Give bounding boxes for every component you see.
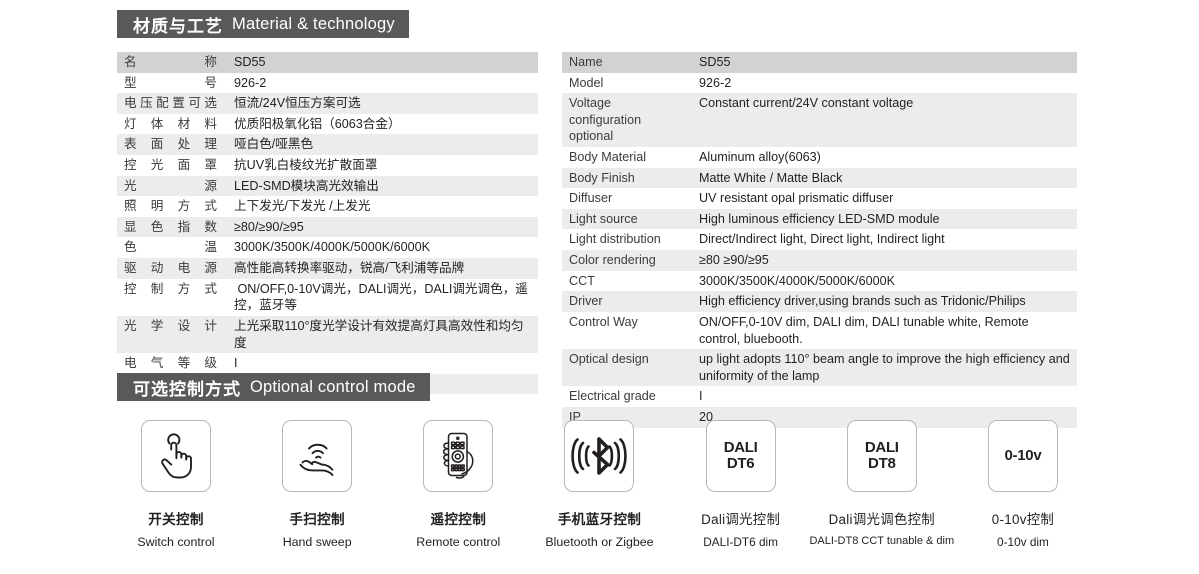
table-row: Voltage configuration optionalConstant c… (562, 93, 1077, 147)
spec-table-chinese: 名称SD55型号926-2电压配置可选恒流/24V恒压方案可选灯体材料优质阳极氧… (117, 52, 538, 394)
control-mode-icon-box: DALIDT8 (847, 420, 917, 492)
control-mode-label-cn: 手扫控制 (289, 508, 345, 528)
table-row: Body MaterialAluminum alloy(6063) (562, 147, 1077, 168)
table-cell-label: 色温 (117, 237, 225, 258)
control-mode-label-cn: 手机蓝牙控制 (558, 508, 641, 528)
table-row: 驱动电源高性能高转换率驱动，锐高/飞利浦等品牌 (117, 258, 538, 279)
table-row: 照明方式上下发光/下发光 /上发光 (117, 196, 538, 217)
table-cell-label: 电气等级 (117, 353, 225, 374)
section-header-material-cn: 材质与工艺 (133, 12, 223, 37)
table-row: 控制方式 ON/OFF,0-10V调光，DALI调光，DALI调光调色，遥控，蓝… (117, 279, 538, 316)
table-cell-value: ON/OFF,0-10V调光，DALI调光，DALI调光调色，遥控，蓝牙等 (225, 279, 538, 316)
control-mode-label-en: 0-10v dim (997, 535, 1049, 549)
control-mode-icon-box: 0-10v (988, 420, 1058, 492)
control-mode-card[interactable]: 0-10v0-10v控制0-10v dim (964, 420, 1082, 565)
control-mode-icon-box (564, 420, 634, 492)
table-cell-value: High efficiency driver,using brands such… (690, 291, 1077, 312)
table-row: 显色指数≥80/≥90/≥95 (117, 217, 538, 238)
table-cell-label: 控制方式 (117, 279, 225, 316)
table-cell-label: 控光面罩 (117, 155, 225, 176)
table-cell-value: Constant current/24V constant voltage (690, 93, 1077, 147)
control-mode-icon-box (282, 420, 352, 492)
table-row: 型号926-2 (117, 73, 538, 94)
table-cell-value: LED-SMD模块高光效输出 (225, 176, 538, 197)
bluetooth-icon (571, 435, 627, 477)
table-cell-value: 哑白色/哑黑色 (225, 134, 538, 155)
control-mode-label-en: Bluetooth or Zigbee (545, 535, 653, 549)
section-header-material: 材质与工艺 Material & technology (117, 10, 409, 38)
table-row: 光源LED-SMD模块高光效输出 (117, 176, 538, 197)
control-mode-label-cn: Dali调光调色控制 (829, 508, 935, 528)
control-mode-icon-box: DALIDT6 (706, 420, 776, 492)
table-cell-label: Optical design (562, 349, 690, 386)
control-mode-card[interactable]: 手机蓝牙控制Bluetooth or Zigbee (540, 420, 658, 565)
dali-dt6-text-icon: DALIDT6 (724, 440, 758, 473)
table-cell-value: SD55 (225, 52, 538, 73)
table-cell-label: Control Way (562, 312, 690, 349)
table-cell-label: Body Material (562, 147, 690, 168)
table-row: DiffuserUV resistant opal prismatic diff… (562, 188, 1077, 209)
card-text-line-1: DALI (865, 440, 899, 457)
table-cell-label: Light distribution (562, 229, 690, 250)
table-cell-label: Electrical grade (562, 386, 690, 407)
table-cell-value: 高性能高转换率驱动，锐高/飞利浦等品牌 (225, 258, 538, 279)
table-row: Electrical gradeI (562, 386, 1077, 407)
table-cell-value: Aluminum alloy(6063) (690, 147, 1077, 168)
table-cell-value: Matte White / Matte Black (690, 168, 1077, 189)
card-text-line-1: DALI (724, 440, 758, 457)
control-mode-label-en: DALI-DT8 CCT tunable & dim (809, 535, 954, 547)
table-cell-label: 名称 (117, 52, 225, 73)
control-mode-card[interactable]: DALIDT6Dali调光控制DALI-DT6 dim (682, 420, 800, 565)
control-mode-icon-box (423, 420, 493, 492)
table-cell-value: up light adopts 110° beam angle to impro… (690, 349, 1077, 386)
table-row: CCT3000K/3500K/4000K/5000K/6000K (562, 271, 1077, 292)
table-cell-value: 926-2 (225, 73, 538, 94)
table-row: 控光面罩抗UV乳白棱纹光扩散面罩 (117, 155, 538, 176)
control-mode-label-en: Remote control (416, 535, 500, 549)
table-cell-value: Direct/Indirect light, Direct light, Ind… (690, 229, 1077, 250)
table-cell-value: 抗UV乳白棱纹光扩散面罩 (225, 155, 538, 176)
table-cell-label: 型号 (117, 73, 225, 94)
table-cell-label: Voltage configuration optional (562, 93, 690, 147)
spec-table-english-body: NameSD55Model926-2Voltage configuration … (562, 52, 1077, 428)
dali-dt8-text-icon: DALIDT8 (865, 440, 899, 473)
tap-hand-icon (152, 430, 200, 482)
table-cell-label: 光学设计 (117, 316, 225, 353)
table-cell-value: UV resistant opal prismatic diffuser (690, 188, 1077, 209)
table-cell-value: High luminous efficiency LED-SMD module (690, 209, 1077, 230)
table-cell-value: 优质阳极氧化铝（6063合金） (225, 114, 538, 135)
table-row: NameSD55 (562, 52, 1077, 73)
table-row: 表面处理哑白色/哑黑色 (117, 134, 538, 155)
table-cell-value: 3000K/3500K/4000K/5000K/6000K (225, 237, 538, 258)
section-header-control-en: Optional control mode (250, 378, 416, 397)
table-cell-label: 电压配置可选 (117, 93, 225, 114)
table-cell-value: I (690, 386, 1077, 407)
table-row: Model926-2 (562, 73, 1077, 94)
table-cell-value: SD55 (690, 52, 1077, 73)
table-row: Color rendering≥80 ≥90/≥95 (562, 250, 1077, 271)
table-cell-value: 上下发光/下发光 /上发光 (225, 196, 538, 217)
table-cell-label: 光源 (117, 176, 225, 197)
remote-control-icon (434, 429, 482, 483)
table-cell-label: Color rendering (562, 250, 690, 271)
table-row: DriverHigh efficiency driver,using brand… (562, 291, 1077, 312)
table-cell-label: Name (562, 52, 690, 73)
table-row: 色温3000K/3500K/4000K/5000K/6000K (117, 237, 538, 258)
table-row: 名称SD55 (117, 52, 538, 73)
table-cell-label: 驱动电源 (117, 258, 225, 279)
control-mode-label-cn: 遥控控制 (431, 508, 487, 528)
spec-table-chinese-body: 名称SD55型号926-2电压配置可选恒流/24V恒压方案可选灯体材料优质阳极氧… (117, 52, 538, 394)
hand-sweep-icon (291, 431, 343, 481)
section-header-control-mode: 可选控制方式 Optional control mode (117, 373, 430, 401)
table-row: Light sourceHigh luminous efficiency LED… (562, 209, 1077, 230)
control-mode-card[interactable]: 开关控制Switch control (117, 420, 235, 565)
table-cell-label: Model (562, 73, 690, 94)
table-cell-value: 恒流/24V恒压方案可选 (225, 93, 538, 114)
table-row: Light distributionDirect/Indirect light,… (562, 229, 1077, 250)
table-cell-value: ≥80 ≥90/≥95 (690, 250, 1077, 271)
table-cell-label: CCT (562, 271, 690, 292)
control-mode-card-list: 开关控制Switch control 手扫控制Hand sweep (117, 420, 1082, 565)
table-row: Optical designup light adopts 110° beam … (562, 349, 1077, 386)
control-mode-label-en: DALI-DT6 dim (703, 535, 778, 549)
table-row: Body FinishMatte White / Matte Black (562, 168, 1077, 189)
table-cell-value: ≥80/≥90/≥95 (225, 217, 538, 238)
zero-to-ten-volt-text-icon: 0-10v (1005, 448, 1042, 465)
card-text-line-2: DT8 (865, 456, 899, 473)
table-cell-value: 上光采取110°度光学设计有效提高灯具高效性和均匀度 (225, 316, 538, 353)
spec-table-english: NameSD55Model926-2Voltage configuration … (562, 52, 1077, 428)
table-cell-label: 表面处理 (117, 134, 225, 155)
control-mode-label-cn: 开关控制 (148, 508, 204, 528)
table-cell-label: 灯体材料 (117, 114, 225, 135)
table-cell-label: 照明方式 (117, 196, 225, 217)
section-header-control-cn: 可选控制方式 (133, 375, 241, 400)
table-row: 灯体材料优质阳极氧化铝（6063合金） (117, 114, 538, 135)
table-row: Control WayON/OFF,0-10V dim, DALI dim, D… (562, 312, 1077, 349)
section-header-material-en: Material & technology (232, 15, 395, 34)
control-mode-card[interactable]: DALIDT8Dali调光调色控制DALI-DT8 CCT tunable & … (823, 420, 941, 565)
table-cell-value: 3000K/3500K/4000K/5000K/6000K (690, 271, 1077, 292)
card-text-line-1: 0-10v (1005, 448, 1042, 465)
table-cell-value: 926-2 (690, 73, 1077, 94)
table-cell-value: I (225, 353, 538, 374)
table-row: 电气等级I (117, 353, 538, 374)
control-mode-icon-box (141, 420, 211, 492)
control-mode-card[interactable]: 遥控控制Remote control (399, 420, 517, 565)
table-cell-label: Light source (562, 209, 690, 230)
table-cell-label: 显色指数 (117, 217, 225, 238)
table-row: 电压配置可选恒流/24V恒压方案可选 (117, 93, 538, 114)
control-mode-label-en: Switch control (137, 535, 214, 549)
card-text-line-2: DT6 (724, 456, 758, 473)
control-mode-label-en: Hand sweep (283, 535, 352, 549)
table-cell-value: ON/OFF,0-10V dim, DALI dim, DALI tunable… (690, 312, 1077, 349)
control-mode-label-cn: 0-10v控制 (992, 508, 1054, 528)
control-mode-label-cn: Dali调光控制 (701, 508, 780, 528)
table-cell-label: Body Finish (562, 168, 690, 189)
table-cell-label: Diffuser (562, 188, 690, 209)
table-cell-label: Driver (562, 291, 690, 312)
control-mode-card[interactable]: 手扫控制Hand sweep (258, 420, 376, 565)
table-row: 光学设计上光采取110°度光学设计有效提高灯具高效性和均匀度 (117, 316, 538, 353)
